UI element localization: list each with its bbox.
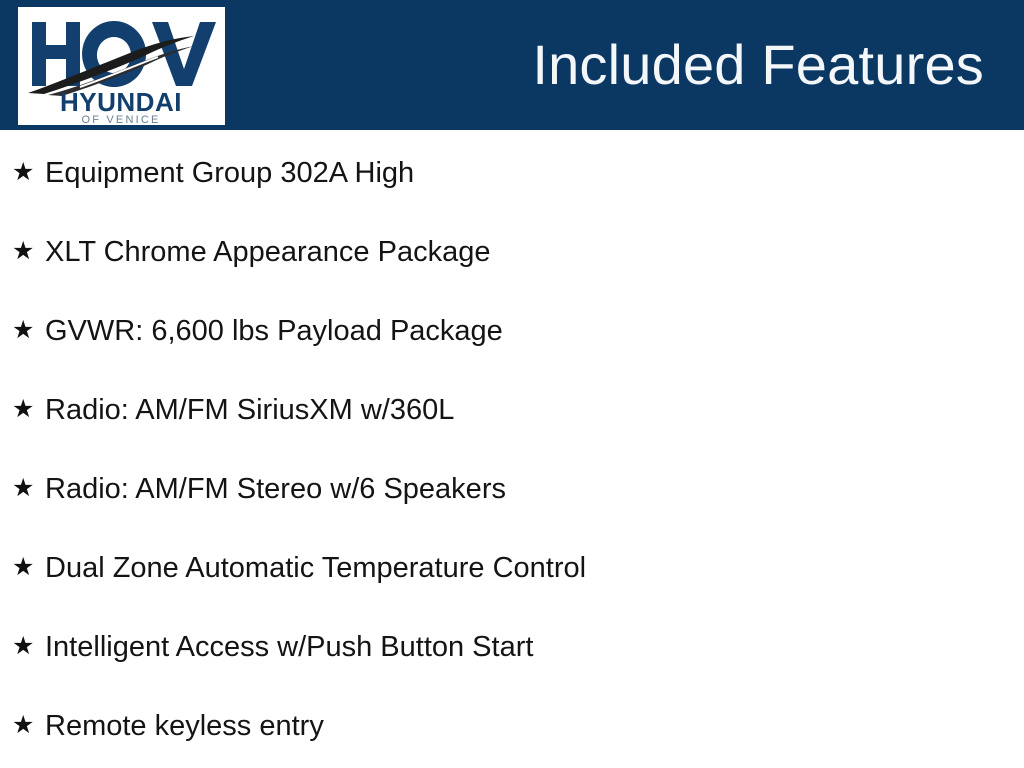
dealer-logo: HYUNDAI OF VENICE [18,7,225,125]
list-item: ★ XLT Chrome Appearance Package [0,212,1024,291]
feature-label: GVWR: 6,600 lbs Payload Package [45,313,503,349]
feature-label: Remote keyless entry [45,708,324,744]
star-icon: ★ [12,160,45,185]
star-icon: ★ [12,634,45,659]
feature-label: Dual Zone Automatic Temperature Control [45,550,586,586]
star-icon: ★ [12,476,45,501]
feature-label: XLT Chrome Appearance Package [45,234,490,270]
star-icon: ★ [12,397,45,422]
list-item: ★ GVWR: 6,600 lbs Payload Package [0,291,1024,370]
list-item: ★ Radio: AM/FM Stereo w/6 Speakers [0,449,1024,528]
feature-label: Equipment Group 302A High [45,155,414,191]
list-item: ★ Equipment Group 302A High [0,133,1024,212]
list-item: ★ Remote keyless entry [0,686,1024,765]
hov-hyundai-of-venice-logo-icon: HYUNDAI OF VENICE [18,7,225,125]
star-icon: ★ [12,713,45,738]
star-icon: ★ [12,555,45,580]
star-icon: ★ [12,239,45,264]
list-item: ★ Radio: AM/FM SiriusXM w/360L [0,370,1024,449]
svg-text:HYUNDAI: HYUNDAI [60,87,182,117]
slide-root: Included Features HYUNDAI [0,0,1024,768]
list-item: ★ Intelligent Access w/Push Button Start [0,607,1024,686]
page-title: Included Features [532,29,984,101]
star-icon: ★ [12,318,45,343]
list-item: ★ Dual Zone Automatic Temperature Contro… [0,528,1024,607]
feature-label: Radio: AM/FM SiriusXM w/360L [45,392,454,428]
included-features-list: ★ Equipment Group 302A High ★ XLT Chrome… [0,130,1024,768]
svg-text:OF VENICE: OF VENICE [81,114,160,125]
feature-label: Radio: AM/FM Stereo w/6 Speakers [45,471,506,507]
feature-label: Intelligent Access w/Push Button Start [45,629,533,665]
